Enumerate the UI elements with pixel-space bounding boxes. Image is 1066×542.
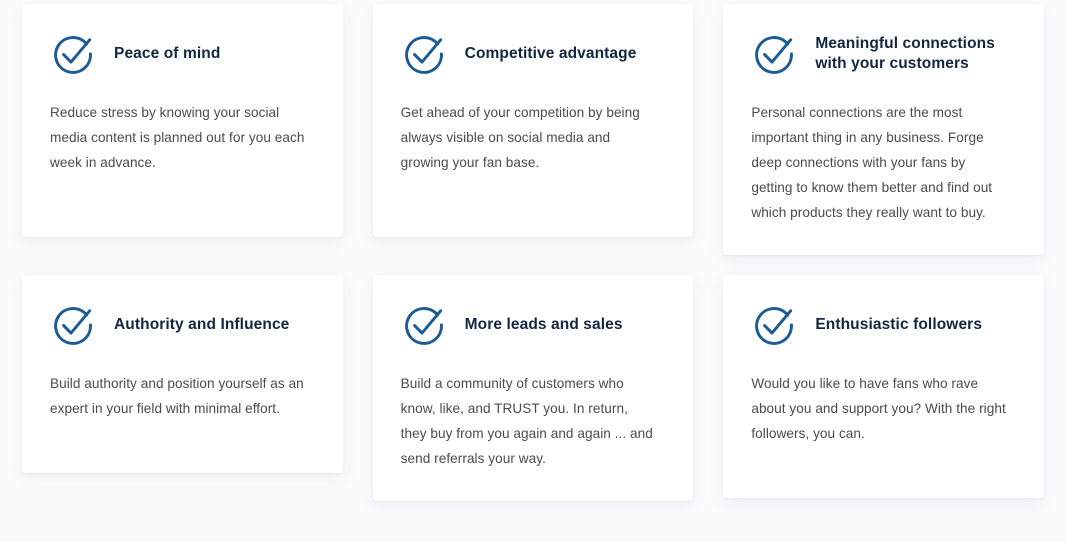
benefit-card-title: Meaningful connections with your custome…: [815, 34, 1016, 74]
benefit-card: Authority and Influence Build authority …: [22, 275, 343, 473]
benefit-card: Peace of mind Reduce stress by knowing y…: [22, 4, 343, 237]
benefit-card-header: Meaningful connections with your custome…: [751, 30, 1016, 78]
benefit-card-header: Enthusiastic followers: [751, 301, 1016, 349]
benefit-card-body: Build authority and position yourself as…: [50, 371, 305, 421]
benefit-card-header: Peace of mind: [50, 30, 315, 78]
benefit-card: Enthusiastic followers Would you like to…: [723, 275, 1044, 498]
benefit-card-body: Get ahead of your competition by being a…: [401, 100, 656, 175]
check-circle-icon: [50, 31, 96, 77]
benefit-card-title: Enthusiastic followers: [815, 315, 982, 335]
check-circle-icon: [401, 302, 447, 348]
check-circle-icon: [50, 302, 96, 348]
benefit-card-body: Reduce stress by knowing your social med…: [50, 100, 305, 175]
benefit-card-title: Competitive advantage: [465, 44, 637, 64]
benefit-card-header: Authority and Influence: [50, 301, 315, 349]
check-circle-icon: [751, 31, 797, 77]
benefit-card: More leads and sales Build a community o…: [373, 275, 694, 501]
benefit-card-title: Authority and Influence: [114, 315, 289, 335]
benefits-grid: Peace of mind Reduce stress by knowing y…: [0, 0, 1066, 501]
check-circle-icon: [751, 302, 797, 348]
benefit-card-header: Competitive advantage: [401, 30, 666, 78]
benefit-card-header: More leads and sales: [401, 301, 666, 349]
check-circle-icon: [401, 31, 447, 77]
benefit-card-body: Personal connections are the most import…: [751, 100, 1006, 225]
benefit-card: Competitive advantage Get ahead of your …: [373, 4, 694, 237]
benefit-card-body: Would you like to have fans who rave abo…: [751, 371, 1006, 446]
benefit-card: Meaningful connections with your custome…: [723, 4, 1044, 255]
benefit-card-title: More leads and sales: [465, 315, 623, 335]
benefit-card-body: Build a community of customers who know,…: [401, 371, 656, 471]
benefit-card-title: Peace of mind: [114, 44, 220, 64]
